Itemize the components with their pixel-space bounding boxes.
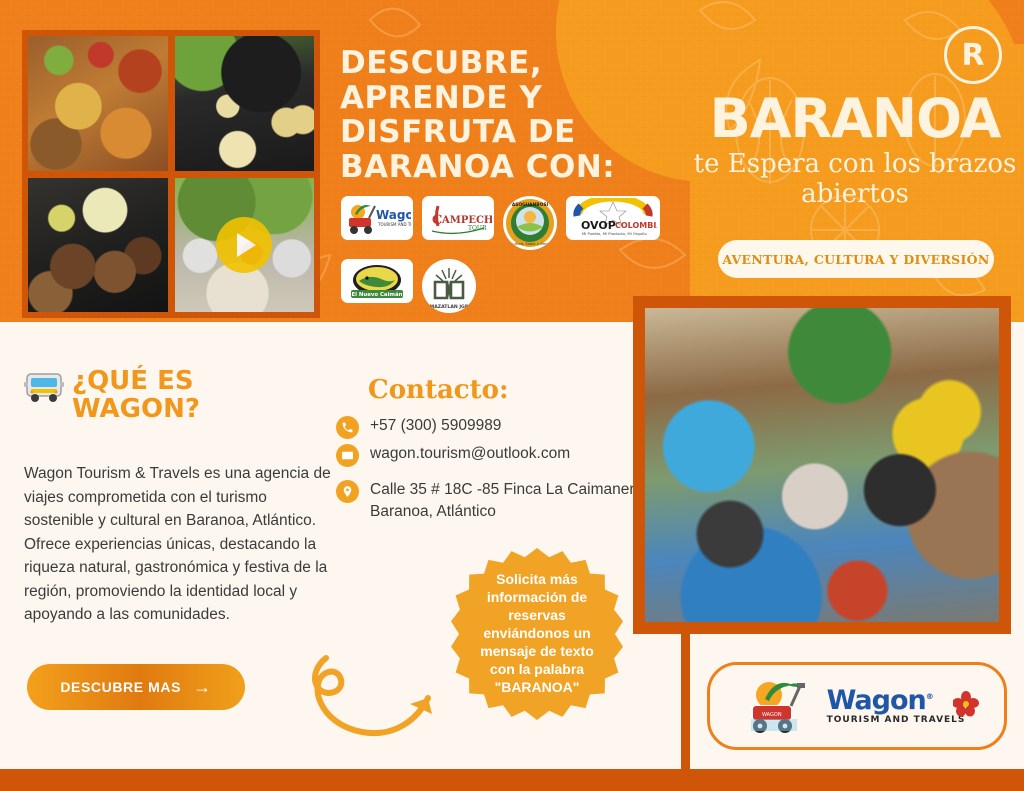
brand-logo-card: WAGON Wagon® TOURISM AND TRAVELS [707,662,1007,750]
svg-text:TOURISM AND TRAVELS: TOURISM AND TRAVELS [377,222,411,227]
photo-festival-crowd [175,178,315,313]
partner-logo-wagon[interactable]: Wagon TOURISM AND TRAVELS [341,196,413,240]
promo-badge-text: Solicita más información de reservas env… [470,571,604,696]
hibiscus-flower-icon [953,691,979,717]
ovop-colombia-logo-icon: OVOP COLOMBIA Mi Pueblo, Mi Producto, Mi… [569,198,657,238]
contact-address: Calle 35 # 18C -85 Finca La Caimanera Ba… [370,479,646,523]
wagon-brand-logo: WAGON Wagon® TOURISM AND TRAVELS [749,675,966,737]
envelope-icon [336,444,359,467]
photo-sancocho-bowl [175,36,315,171]
destination-tagline: te Espera con los brazos abiertos [690,150,1020,210]
partner-logo-mazatlan-jgr[interactable]: MAZATLAN JGR [422,259,476,313]
brand-name: Wagon® [827,687,966,714]
photo-group-dining [645,308,999,622]
svg-text:Wagon: Wagon [376,208,411,222]
partner-logo-el-nuevo-caiman[interactable]: El Nuevo Caimán [341,259,413,303]
contact-email-row[interactable]: wagon.tourism@outlook.com [336,443,646,467]
partner-logos: Wagon TOURISM AND TRAVELS C AMPECHE TOUR [341,196,671,322]
photo-tamales-platter [28,36,168,171]
svg-text:Mi Pueblo, Mi Producto, Mi Org: Mi Pueblo, Mi Producto, Mi Orgullo [582,231,647,236]
flyer-page: DESCUBRE, APRENDE Y DISFRUTA DE BARANOA … [0,0,1024,791]
wagon-wordmark: Wagon® TOURISM AND TRAVELS [827,687,966,725]
curved-arrow-icon [300,640,460,750]
headline: DESCUBRE, APRENDE Y DISFRUTA DE BARANOA … [340,46,680,185]
descubre-mas-button[interactable]: DESCUBRE MAS → [27,664,245,710]
contact-address-row[interactable]: Calle 35 # 18C -85 Finca La Caimanera Ba… [336,479,646,523]
partner-logo-campeche[interactable]: C AMPECHE TOUR [422,196,494,240]
location-pin-icon [336,480,359,503]
cta-label: DESCUBRE MAS [60,679,181,695]
partner-logo-row-1: Wagon TOURISM AND TRAVELS C AMPECHE TOUR [341,196,671,250]
svg-text:Cultura, Sabor y Amor: Cultura, Sabor y Amor [510,242,550,246]
mazatlan-jgr-logo-icon: MAZATLAN JGR [423,260,475,312]
brand-tagline: TOURISM AND TRAVELS [827,716,966,725]
phone-icon [336,416,359,439]
play-video-button[interactable] [216,217,272,273]
partner-logo-asoguanbosi[interactable]: ASOGUANBOSI Cultura, Sabor y Amor [503,196,557,250]
partner-logo-row-2: El Nuevo Caimán MAZATLAN JGR [341,259,671,313]
svg-text:C: C [432,213,442,228]
svg-text:ASOGUANBOSI: ASOGUANBOSI [512,202,549,208]
about-title: ¿QUÉ ES WAGON? [72,368,302,423]
contact-phone-row[interactable]: +57 (300) 5909989 [336,415,646,439]
photo-collage [22,30,320,318]
contact-phone: +57 (300) 5909989 [370,415,501,437]
partner-logo-ovop-colombia[interactable]: OVOP COLOMBIA Mi Pueblo, Mi Producto, Mi… [566,196,660,240]
brand-name-text: Wagon [827,685,926,716]
footer-bar [0,769,1024,791]
destination-title: BARANOA [690,92,1020,146]
svg-text:COLOMBIA: COLOMBIA [615,221,657,230]
arrow-right-icon: → [193,678,212,696]
about-body: Wagon Tourism & Travels es una agencia d… [24,462,334,627]
el-nuevo-caiman-logo-icon: El Nuevo Caimán [343,261,411,301]
svg-text:El Nuevo Caimán: El Nuevo Caimán [351,291,402,298]
registered-mark: ® [926,692,933,701]
wagon-logo-icon: Wagon TOURISM AND TRAVELS [343,198,411,238]
photo-grilled-skewers [28,178,168,313]
wagon-cart-icon: WAGON [749,675,823,737]
campeche-tour-logo-icon: C AMPECHE TOUR [424,198,492,238]
bus-icon [24,370,64,404]
registered-badge: R [944,26,1002,84]
main-photo-frame [633,296,1011,634]
contact-email: wagon.tourism@outlook.com [370,443,570,465]
play-triangle-icon [237,233,256,257]
asoguanbosi-logo-icon: ASOGUANBOSI Cultura, Sabor y Amor [504,197,556,249]
svg-text:WAGON: WAGON [762,712,782,718]
contact-heading: Contacto: [368,375,509,405]
svg-text:MAZATLAN JGR: MAZATLAN JGR [430,304,469,310]
themes-pill: AVENTURA, CULTURA Y DIVERSIÓN [718,240,994,278]
